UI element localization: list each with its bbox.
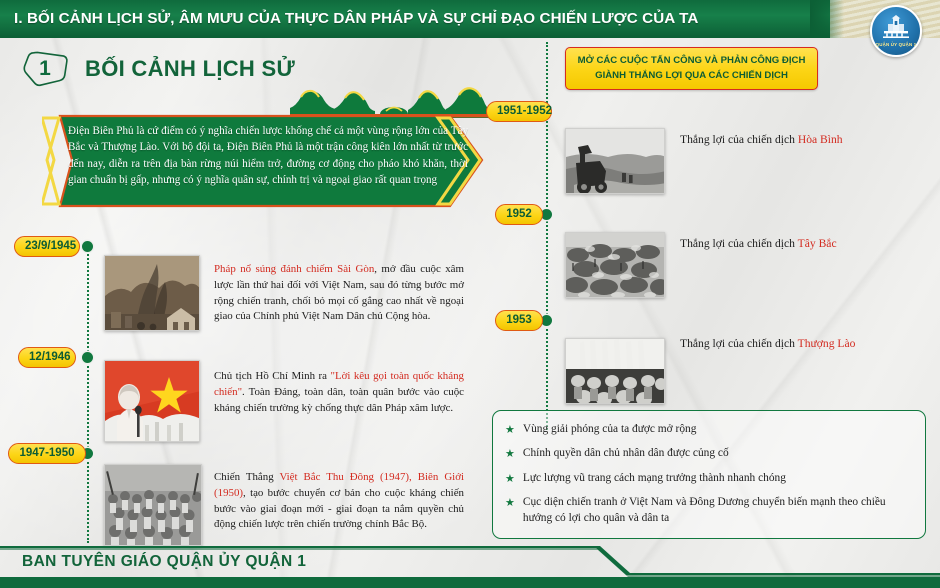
right-timeline-line [546,42,548,430]
bullet-text: Lực lượng vũ trang cách mạng trưởng thàn… [523,471,786,487]
campaign-date-pill-3[interactable]: 1953 [495,310,543,331]
left-timeline-dot [82,241,93,252]
left-timeline-line [87,243,89,543]
right-panel-header-box: MỞ CÁC CUỘC TẤN CÔNG VÀ PHẢN CÔNG ĐỊCH G… [565,47,818,90]
campaign-caption-2: Thắng lợi của chiến dịch Tây Bắc [680,237,837,250]
date-pill-3[interactable]: 1947-1950 [8,443,86,464]
footer-text: BAN TUYÊN GIÁO QUẬN ỦY QUẬN 1 [22,553,306,571]
quan-uy-quan-1-logo: QUẬN ỦY QUẬN 1 [870,5,922,57]
list-item: ★ Chính quyền dân chủ nhân dân được củng… [505,446,911,462]
hoa-binh-campaign-photo [565,128,665,194]
page-title: I. BỐI CẢNH LỊCH SỬ, ÂM MƯU CỦA THỰC DÂN… [14,0,698,38]
caption-prefix: Thắng lợi của chiến dịch [680,237,798,250]
body-text: Chủ tịch Hồ Chí Minh ra [214,370,331,382]
viet-bac-troops-photo [104,464,202,546]
section-number-badge: 1 [22,46,72,92]
campaign-name: Thượng Lào [798,337,856,350]
caption-prefix: Thắng lợi của chiến dịch [680,337,798,350]
body-text: , tạo bước chuyển cơ bản cho cuộc kháng … [214,487,464,531]
historical-context-banner: Điện Biên Phủ là cứ điểm có ý nghĩa chiế… [42,114,512,208]
saigon-fire-photo [104,255,200,331]
header-bar: I. BỐI CẢNH LỊCH SỬ, ÂM MƯU CỦA THỰC DÂN… [0,0,940,38]
star-icon: ★ [505,495,515,511]
star-icon: ★ [505,471,515,487]
bullet-text: Vùng giải phóng của ta được mở rộng [523,422,697,438]
star-icon: ★ [505,446,515,462]
date-pill-2[interactable]: 12/1946 [18,347,76,368]
header-stripe-fade [810,0,844,38]
right-panel-header-line1: MỞ CÁC CUỘC TẤN CÔNG VÀ PHẢN CÔNG ĐỊCH [578,54,806,68]
left-timeline-text-1: Pháp nổ súng đánh chiếm Sài Gòn, mở đầu … [214,262,464,325]
campaign-name: Tây Bắc [798,237,837,250]
body-text: Chiến Thắng [214,471,279,483]
campaign-caption-3: Thắng lợi của chiến dịch Thượng Lào [680,337,855,350]
right-panel-header-line2: GIÀNH THẮNG LỢI QUA CÁC CHIẾN DỊCH [595,69,788,83]
left-timeline-dot [82,352,93,363]
section-heading: 1 BỐI CẢNH LỊCH SỬ [22,46,295,92]
outcomes-box: ★ Vùng giải phóng của ta được mở rộng ★ … [492,410,926,539]
campaign-name: Hòa Bình [798,133,843,146]
ho-chi-minh-flag-photo [104,360,200,442]
section-title: BỐI CẢNH LỊCH SỬ [85,56,295,82]
list-item: ★ Lực lượng vũ trang cách mạng trưởng th… [505,471,911,487]
highlight-text: Pháp nổ súng đánh chiếm Sài Gòn [214,263,374,275]
campaign-date-pill-2[interactable]: 1952 [495,204,543,225]
body-text: . Toàn Đảng, toàn dân, toàn quân bước và… [214,386,464,414]
thuong-lao-campaign-photo [565,338,665,404]
tay-bac-campaign-photo [565,232,665,298]
caption-prefix: Thắng lợi của chiến dịch [680,133,798,146]
slide-root: I. BỐI CẢNH LỊCH SỬ, ÂM MƯU CỦA THỰC DÂN… [0,0,940,588]
left-timeline-text-3: Chiến Thắng Việt Bắc Thu Đông (1947), Bi… [214,470,464,533]
building-icon [881,15,911,41]
bullet-text: Cục diện chiến tranh ở Việt Nam và Đông … [523,495,911,526]
star-icon: ★ [505,422,515,438]
list-item: ★ Vùng giải phóng của ta được mở rộng [505,422,911,438]
banner-text: Điện Biên Phủ là cứ điểm có ý nghĩa chiế… [68,123,468,201]
campaign-date-pill-1[interactable]: 1951-1952 [486,101,552,122]
section-number: 1 [22,46,72,92]
date-pill-1[interactable]: 23/9/1945 [14,236,80,257]
campaign-caption-1: Thắng lợi của chiến dịch Hòa Bình [680,133,843,146]
list-item: ★ Cục diện chiến tranh ở Việt Nam và Đôn… [505,495,911,526]
bullet-text: Chính quyền dân chủ nhân dân được củng c… [523,446,729,462]
left-timeline-text-2: Chủ tịch Hồ Chí Minh ra "Lời kêu gọi toà… [214,369,464,416]
logo-caption: QUẬN ỦY QUẬN 1 [876,42,917,47]
